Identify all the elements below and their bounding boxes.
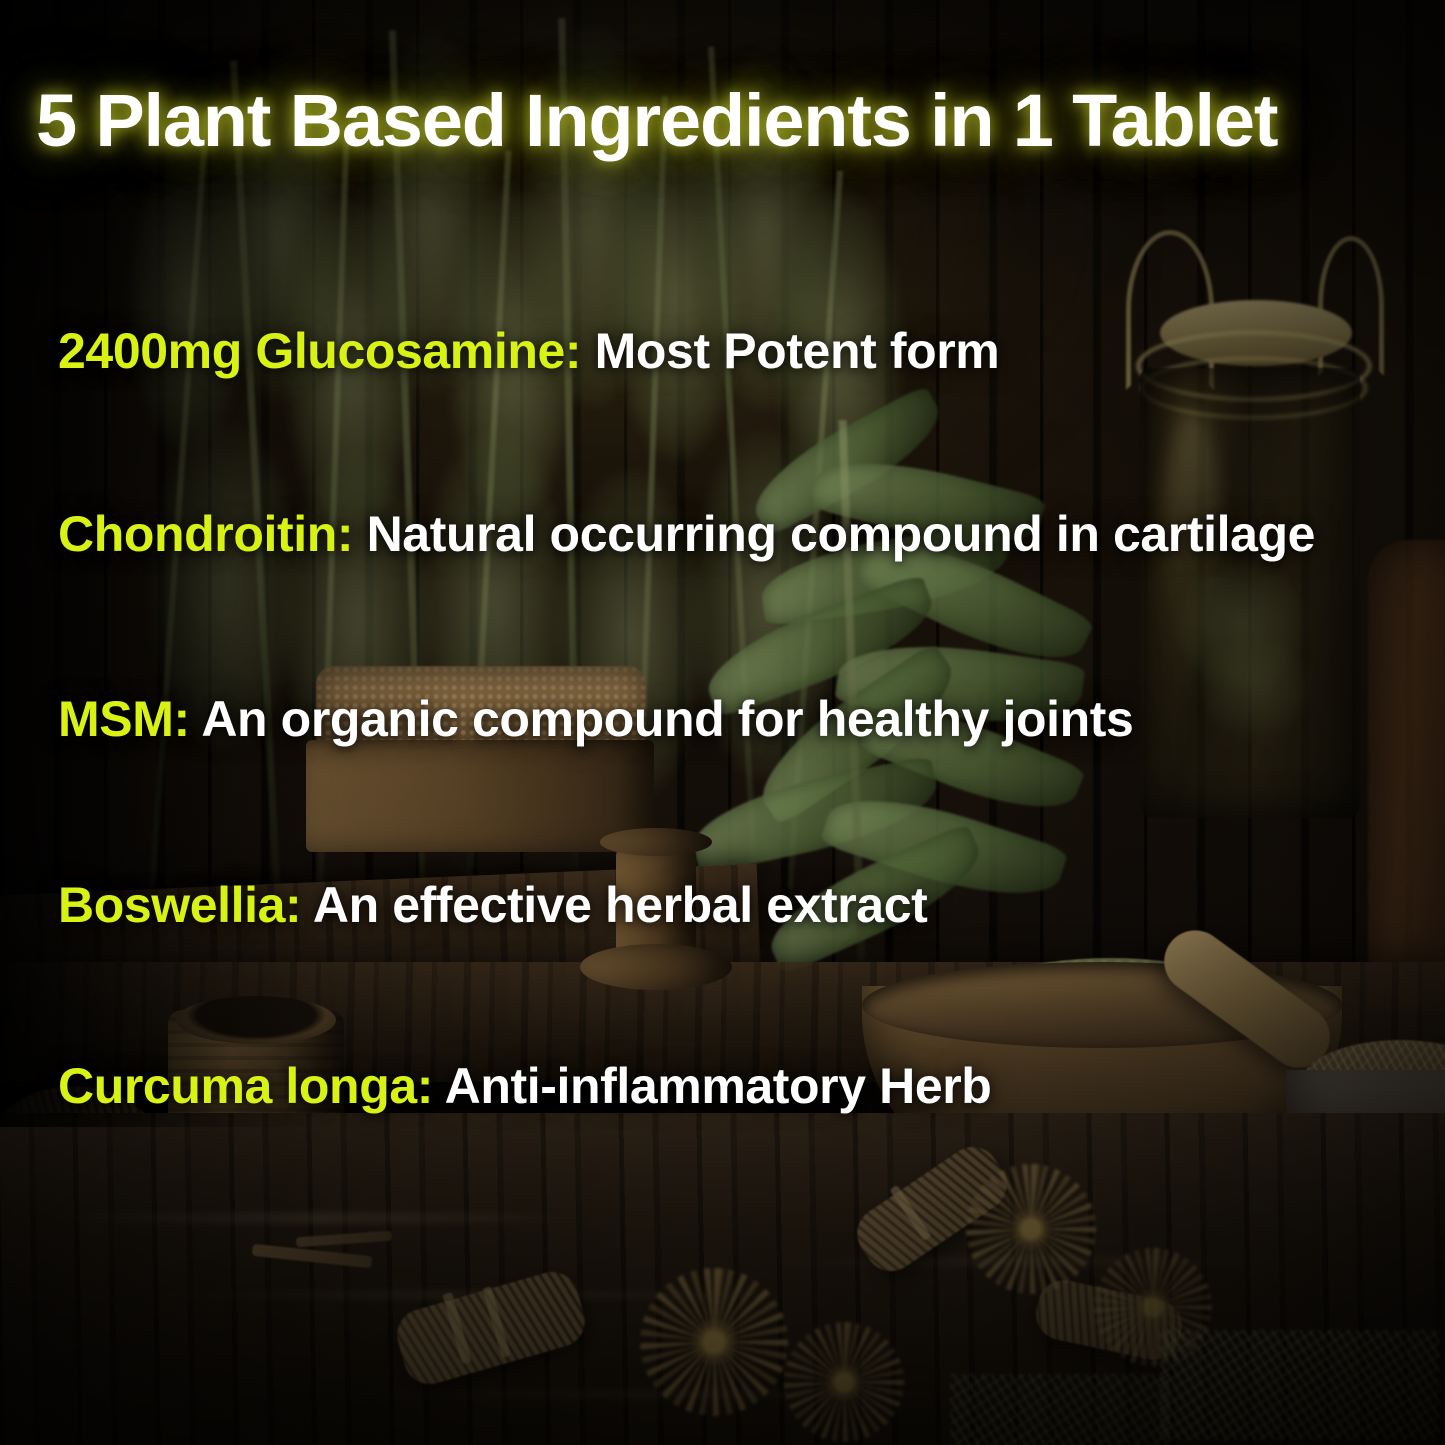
ingredient-poster: 5 Plant Based Ingredients in 1 Tablet 24… [0, 0, 1445, 1445]
ingredient-name-3: MSM: [58, 691, 190, 747]
ingredient-line-3: MSM: An organic compound for healthy joi… [58, 690, 1133, 748]
ingredient-line-2: Chondroitin: Natural occurring compound … [58, 505, 1315, 563]
ingredient-desc-1: Most Potent form [581, 323, 999, 379]
ingredient-name-5: Curcuma longa: [58, 1058, 433, 1114]
page-title: 5 Plant Based Ingredients in 1 Tablet [36, 78, 1416, 163]
ingredient-name-4: Boswellia: [58, 877, 301, 933]
ingredient-desc-3: An organic compound for healthy joints [190, 691, 1134, 747]
ingredient-line-5: Curcuma longa: Anti-inflammatory Herb [58, 1057, 991, 1115]
ingredient-name-1: 2400mg Glucosamine: [58, 323, 581, 379]
ingredient-line-4: Boswellia: An effective herbal extract [58, 876, 927, 934]
ingredient-desc-4: An effective herbal extract [301, 877, 927, 933]
ingredient-line-1: 2400mg Glucosamine: Most Potent form [58, 322, 999, 380]
text-overlay: 5 Plant Based Ingredients in 1 Tablet 24… [0, 0, 1445, 1445]
ingredient-desc-2: Natural occurring compound in cartilage [353, 506, 1315, 562]
ingredient-name-2: Chondroitin: [58, 506, 353, 562]
ingredient-desc-5: Anti-inflammatory Herb [433, 1058, 991, 1114]
